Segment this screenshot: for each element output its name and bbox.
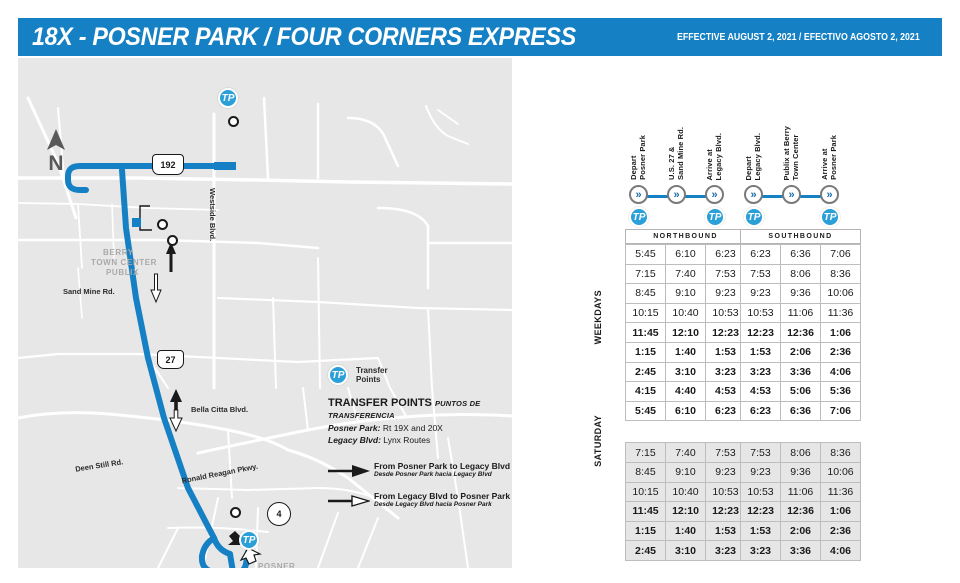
- schedule-time-cell: 11:36: [821, 303, 861, 323]
- northbound-tp-badge-2[interactable]: TP: [705, 207, 725, 227]
- north-arrow-icon: N: [40, 128, 72, 180]
- schedule-time-cell: 11:06: [781, 303, 821, 323]
- table-row: 7:157:407:53: [626, 443, 746, 463]
- legend-direction-list: From Posner Park to Legacy Blvd Desde Po…: [328, 461, 512, 512]
- hollow-arrow-right-icon: [328, 491, 374, 512]
- map-label-berry: BERRY: [103, 248, 134, 257]
- table-row: 8:459:109:23: [626, 462, 746, 482]
- legend-tp-caption: Transfer Points: [356, 366, 388, 384]
- southbound-colhead-2: Arrive at Posner Park: [820, 135, 838, 180]
- southbound-weekday-table: 6:236:367:067:538:068:369:239:3610:0610:…: [740, 244, 861, 421]
- schedule-time-cell: 10:40: [666, 482, 706, 502]
- southbound-colhead-1: Publix at Berry Town Center: [782, 126, 800, 180]
- southbound-saturday-table: 7:538:068:369:239:3610:0610:5311:0611:36…: [740, 442, 861, 561]
- schedule-time-cell: 2:45: [626, 541, 666, 561]
- legend-tp-caption-line2: Points: [356, 375, 388, 384]
- schedule-time-cell: 2:36: [821, 342, 861, 362]
- schedule-time-cell: 1:15: [626, 342, 666, 362]
- highway-shield-27: 27: [157, 350, 184, 369]
- map-transfer-point-south[interactable]: TP: [239, 530, 259, 550]
- map-label-town-center: TOWN CENTER: [91, 258, 157, 267]
- map-legend: TP Transfer Points TRANSFER POINTS PUNTO…: [328, 363, 512, 521]
- southbound-chevron-icon-1: »: [782, 185, 801, 204]
- table-row: 3:233:364:06: [741, 362, 861, 382]
- table-row: 10:1510:4010:53: [626, 303, 746, 323]
- table-row: 9:239:3610:06: [741, 462, 861, 482]
- legend-direction-southbound-en: From Legacy Blvd to Posner Park: [374, 491, 510, 501]
- southbound-tp-badge-0[interactable]: TP: [744, 207, 764, 227]
- table-row: 7:538:068:36: [741, 443, 861, 463]
- schedule-time-cell: 7:40: [666, 443, 706, 463]
- schedule-time-cell: 4:40: [666, 382, 706, 402]
- saturday-label: SATURDAY: [593, 415, 603, 467]
- schedule-time-cell: 11:06: [781, 482, 821, 502]
- schedule-time-cell: 5:36: [821, 382, 861, 402]
- table-row: 12:2312:361:06: [741, 502, 861, 522]
- map-stop-dot-2: [157, 219, 168, 230]
- legend-transfer-point-row: TP Transfer Points: [328, 363, 512, 387]
- legend-point-posner-park: Posner Park: Rt 19X and 20X: [328, 423, 512, 433]
- table-row: 6:236:367:06: [741, 245, 861, 265]
- schedule-time-cell: 12:36: [781, 323, 821, 343]
- map-label-westside-blvd: Westside Blvd.: [208, 188, 217, 241]
- route-map-panel: N Westside Blvd. BERRY TOWN CENTER PUBLI…: [18, 58, 512, 568]
- schedule-time-cell: 8:06: [781, 443, 821, 463]
- map-label-posner: POSNER: [258, 562, 295, 568]
- southbound-colhead-0: Depart Legacy Blvd.: [744, 133, 762, 180]
- legend-title-en: TRANSFER POINTS: [328, 397, 432, 409]
- schedule-time-cell: 1:40: [666, 521, 706, 541]
- table-row: 2:453:103:23: [626, 541, 746, 561]
- schedule-time-cell: 7:53: [741, 264, 781, 284]
- legend-direction-southbound-es: Desde Legacy Blvd hacia Posner Park: [374, 501, 510, 508]
- schedule-time-cell: 2:06: [781, 521, 821, 541]
- schedule-time-cell: 1:40: [666, 342, 706, 362]
- table-row: 1:151:401:53: [626, 342, 746, 362]
- effective-date-text: EFFECTIVE AUGUST 2, 2021 / EFECTIVO AGOS…: [677, 32, 920, 43]
- map-transfer-point-north[interactable]: TP: [218, 88, 238, 108]
- northbound-chevron-icon-1: »: [667, 185, 686, 204]
- schedule-time-cell: 9:23: [741, 284, 781, 304]
- schedule-time-cell: 8:06: [781, 264, 821, 284]
- schedule-time-cell: 12:36: [781, 502, 821, 522]
- legend-point-legacy-blvd-place: Legacy Blvd:: [328, 435, 381, 445]
- schedule-time-cell: 5:06: [781, 382, 821, 402]
- legend-point-legacy-blvd: Legacy Blvd: Lynx Routes: [328, 435, 512, 445]
- legend-point-posner-park-detail: Rt 19X and 20X: [383, 423, 443, 433]
- northbound-saturday-table: 7:157:407:538:459:109:2310:1510:4010:531…: [625, 442, 746, 561]
- southbound-chevron-line: » » »: [740, 185, 861, 207]
- table-row: 11:4512:1012:23: [626, 323, 746, 343]
- schedule-time-cell: 12:23: [741, 502, 781, 522]
- schedule-time-cell: 6:23: [741, 401, 781, 421]
- legend-direction-southbound: From Legacy Blvd to Posner Park Desde Le…: [328, 491, 512, 512]
- table-row: 6:236:367:06: [741, 401, 861, 421]
- northbound-colhead-1: U.S. 27 & Sand Mine Rd.: [667, 127, 685, 180]
- schedule-time-cell: 11:45: [626, 502, 666, 522]
- table-row: 4:535:065:36: [741, 382, 861, 402]
- legend-direction-northbound-en: From Posner Park to Legacy Blvd: [374, 461, 510, 471]
- schedule-time-cell: 10:40: [666, 303, 706, 323]
- schedule-time-cell: 8:36: [821, 264, 861, 284]
- schedule-time-cell: 5:45: [626, 245, 666, 265]
- schedule-time-cell: 6:23: [741, 245, 781, 265]
- schedule-time-cell: 12:23: [741, 323, 781, 343]
- schedule-time-cell: 2:45: [626, 362, 666, 382]
- table-row: 1:151:401:53: [626, 521, 746, 541]
- table-row: 5:456:106:23: [626, 245, 746, 265]
- page-title: 18X - POSNER PARK / FOUR CORNERS EXPRESS: [32, 23, 576, 52]
- schedule-time-cell: 10:53: [741, 303, 781, 323]
- schedule-time-cell: 3:23: [741, 362, 781, 382]
- table-row: 1:532:062:36: [741, 342, 861, 362]
- schedule-time-cell: 9:36: [781, 462, 821, 482]
- schedule-time-cell: 9:23: [741, 462, 781, 482]
- southbound-tp-row: TP TP: [740, 207, 861, 229]
- legend-tp-caption-line1: Transfer: [356, 366, 388, 375]
- legend-direction-southbound-text: From Legacy Blvd to Posner Park Desde Le…: [374, 491, 510, 508]
- schedule-time-cell: 1:06: [821, 323, 861, 343]
- schedule-time-cell: 7:15: [626, 443, 666, 463]
- schedule-time-cell: 10:06: [821, 462, 861, 482]
- schedule-time-cell: 7:06: [821, 401, 861, 421]
- northbound-chevron-icon-2: »: [705, 185, 724, 204]
- schedule-time-cell: 8:45: [626, 462, 666, 482]
- legend-point-legacy-blvd-detail: Lynx Routes: [383, 435, 430, 445]
- schedule-time-cell: 7:15: [626, 264, 666, 284]
- table-row: 9:239:3610:06: [741, 284, 861, 304]
- northbound-tp-badge-0[interactable]: TP: [629, 207, 649, 227]
- map-stop-dot-1: [228, 116, 239, 127]
- schedule-northbound: Depart Posner Park U.S. 27 & Sand Mine R…: [625, 118, 746, 561]
- schedule-time-cell: 9:10: [666, 284, 706, 304]
- map-label-publix: PUBLIX: [106, 268, 139, 277]
- table-row: 10:5311:0611:36: [741, 482, 861, 502]
- table-row: 12:2312:361:06: [741, 323, 861, 343]
- schedule-time-cell: 6:36: [781, 245, 821, 265]
- table-row: 10:5311:0611:36: [741, 303, 861, 323]
- northbound-colhead-2: Arrive at Legacy Blvd.: [705, 133, 723, 180]
- schedule-time-cell: 6:10: [666, 401, 706, 421]
- legend-direction-northbound: From Posner Park to Legacy Blvd Desde Po…: [328, 461, 512, 482]
- map-stop-dot-3: [167, 235, 178, 246]
- northbound-chevron-line: » » »: [625, 185, 746, 207]
- schedule-time-cell: 6:36: [781, 401, 821, 421]
- schedule-time-cell: 3:10: [666, 362, 706, 382]
- table-row: 1:532:062:36: [741, 521, 861, 541]
- northbound-direction-label: NORTHBOUND: [625, 229, 746, 244]
- weekdays-label: WEEKDAYS: [593, 290, 603, 344]
- legend-tp-icon: TP: [328, 365, 348, 385]
- schedule-time-cell: 7:06: [821, 245, 861, 265]
- schedule-time-cell: 1:53: [741, 342, 781, 362]
- southbound-chevron-icon-0: »: [744, 185, 763, 204]
- schedule-time-cell: 4:06: [821, 362, 861, 382]
- schedule-time-cell: 1:06: [821, 502, 861, 522]
- legend-direction-northbound-text: From Posner Park to Legacy Blvd Desde Po…: [374, 461, 510, 478]
- highway-shield-i4: 4: [267, 502, 291, 526]
- legend-direction-northbound-es: Desde Posner Park hacia Legacy Blvd: [374, 471, 510, 478]
- schedule-time-cell: 12:10: [666, 502, 706, 522]
- schedule-time-cell: 4:53: [741, 382, 781, 402]
- table-row: 7:538:068:36: [741, 264, 861, 284]
- north-letter: N: [40, 152, 72, 176]
- southbound-direction-label: SOUTHBOUND: [740, 229, 861, 244]
- schedule-time-cell: 3:23: [741, 541, 781, 561]
- schedule-time-cell: 5:45: [626, 401, 666, 421]
- southbound-chevron-icon-2: »: [820, 185, 839, 204]
- schedule-time-cell: 9:36: [781, 284, 821, 304]
- highway-shield-192: 192: [152, 154, 184, 175]
- schedule-time-cell: 11:45: [626, 323, 666, 343]
- table-row: 5:456:106:23: [626, 401, 746, 421]
- table-row: 10:1510:4010:53: [626, 482, 746, 502]
- solid-arrow-right-icon: [328, 461, 374, 482]
- schedule-time-cell: 6:10: [666, 245, 706, 265]
- schedule-time-cell: 10:06: [821, 284, 861, 304]
- schedule-time-cell: 11:36: [821, 482, 861, 502]
- table-row: 3:233:364:06: [741, 541, 861, 561]
- schedule-time-cell: 3:36: [781, 362, 821, 382]
- table-row: 2:453:103:23: [626, 362, 746, 382]
- schedule-time-cell: 4:15: [626, 382, 666, 402]
- schedule-time-cell: 2:06: [781, 342, 821, 362]
- table-row: 8:459:109:23: [626, 284, 746, 304]
- map-label-sand-mine-rd: Sand Mine Rd.: [63, 287, 115, 296]
- schedule-time-cell: 10:53: [741, 482, 781, 502]
- schedule-time-cell: 8:36: [821, 443, 861, 463]
- schedule-time-cell: 7:53: [741, 443, 781, 463]
- table-row: 11:4512:1012:23: [626, 502, 746, 522]
- header-bar: 18X - POSNER PARK / FOUR CORNERS EXPRESS…: [18, 18, 942, 56]
- southbound-column-headers: Depart Legacy Blvd. Publix at Berry Town…: [740, 118, 861, 180]
- schedule-time-cell: 3:36: [781, 541, 821, 561]
- schedule-time-cell: 3:10: [666, 541, 706, 561]
- northbound-chevron-icon-0: »: [629, 185, 648, 204]
- schedule-time-cell: 10:15: [626, 482, 666, 502]
- schedule-time-cell: 4:06: [821, 541, 861, 561]
- schedule-time-cell: 8:45: [626, 284, 666, 304]
- southbound-tp-badge-2[interactable]: TP: [820, 207, 840, 227]
- map-stop-dot-4: [230, 507, 241, 518]
- legend-title: TRANSFER POINTS PUNTOS DE TRANSFERENCIA: [328, 397, 512, 421]
- northbound-tp-row: TP TP: [625, 207, 746, 229]
- schedule-time-cell: 9:10: [666, 462, 706, 482]
- schedule-time-cell: 1:15: [626, 521, 666, 541]
- map-label-bella-citta-blvd: Bella Citta Blvd.: [191, 405, 248, 414]
- northbound-column-headers: Depart Posner Park U.S. 27 & Sand Mine R…: [625, 118, 746, 180]
- table-row: 7:157:407:53: [626, 264, 746, 284]
- table-row: 4:154:404:53: [626, 382, 746, 402]
- schedule-time-cell: 1:53: [741, 521, 781, 541]
- legend-point-posner-park-place: Posner Park:: [328, 423, 380, 433]
- schedule-time-cell: 2:36: [821, 521, 861, 541]
- northbound-weekday-table: 5:456:106:237:157:407:538:459:109:2310:1…: [625, 244, 746, 421]
- schedule-time-cell: 10:15: [626, 303, 666, 323]
- schedule-time-cell: 7:40: [666, 264, 706, 284]
- schedule-southbound: Depart Legacy Blvd. Publix at Berry Town…: [740, 118, 861, 561]
- northbound-colhead-0: Depart Posner Park: [629, 135, 647, 180]
- schedule-time-cell: 12:10: [666, 323, 706, 343]
